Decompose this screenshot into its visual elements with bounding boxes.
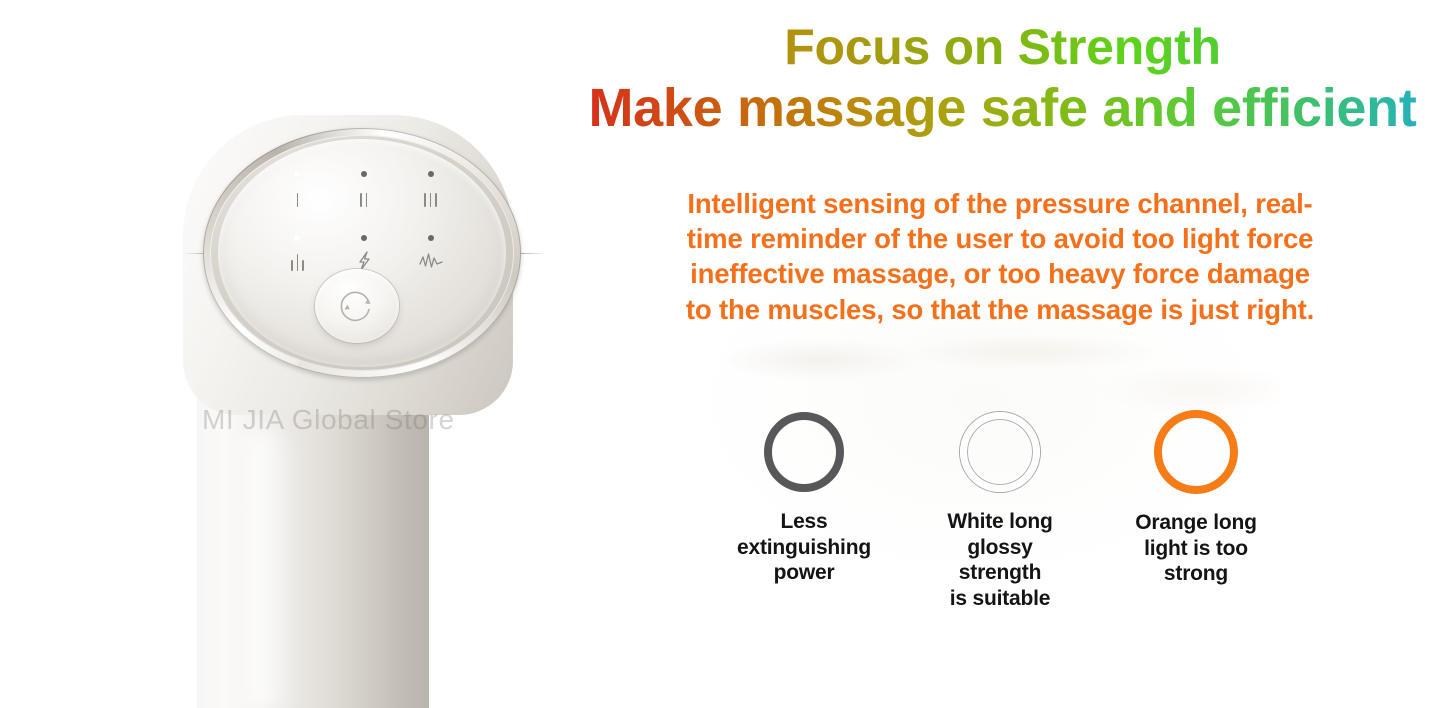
caption-line: glossy strength — [959, 536, 1041, 585]
caption-line: White long — [947, 510, 1052, 533]
mode-indicator-level-1[interactable] — [269, 171, 325, 207]
body-line: ineffective massage, or too heavy force … — [590, 256, 1410, 291]
caption-line: extinguishing — [737, 536, 871, 559]
ring-indicator-gray — [764, 412, 844, 492]
legend-item-too-strong: Orange long light is too strong — [1122, 412, 1270, 611]
legend-caption: Orange long light is too strong — [1122, 510, 1270, 587]
headline: Focus on Strength Make massage safe and … — [560, 18, 1445, 141]
level-3-bars-icon — [403, 185, 459, 207]
level-4-bars-icon — [269, 249, 325, 271]
caption-line: Orange long — [1135, 511, 1256, 534]
mode-indicator-level-3[interactable] — [403, 171, 459, 207]
body-line: to the muscles, so that the massage is j… — [590, 292, 1410, 327]
level-2-bars-icon — [336, 185, 392, 207]
caption-line: strong — [1164, 562, 1228, 585]
ring-indicator-white — [960, 412, 1040, 492]
massage-gun-device: MI JIA Global Store — [0, 0, 600, 708]
mode-indicator-grid — [264, 171, 464, 271]
led-indicator — [294, 235, 300, 241]
led-indicator — [428, 235, 434, 241]
pulse-wave-icon — [403, 249, 459, 271]
power-button[interactable] — [315, 269, 399, 343]
lightning-bolt-icon — [336, 249, 392, 271]
handle-highlight — [228, 430, 298, 708]
level-1-bars-icon — [269, 185, 325, 207]
circular-arrow-icon — [335, 284, 379, 328]
ring-indicator-orange — [1154, 410, 1238, 494]
mode-indicator-boost[interactable] — [336, 235, 392, 271]
body-line: time reminder of the user to avoid too l… — [590, 221, 1410, 256]
strength-indicator-legend: Less extinguishing power White long glos… — [730, 412, 1270, 611]
led-indicator — [294, 171, 300, 177]
caption-line: Less — [780, 510, 827, 533]
product-feature-banner: MI JIA Global Store Focus on Strength Ma… — [0, 0, 1445, 708]
headline-line-2: Make massage safe and efficient — [560, 77, 1445, 141]
legend-caption: Less extinguishing power — [730, 509, 878, 586]
legend-caption: White long glossy strength is suitable — [926, 509, 1074, 611]
led-indicator — [361, 235, 367, 241]
led-indicator — [428, 171, 434, 177]
caption-line: light is too — [1144, 537, 1248, 560]
caption-line: is suitable — [950, 587, 1051, 610]
control-panel-face — [218, 139, 506, 367]
headline-line-1: Focus on Strength — [560, 18, 1445, 77]
caption-line: power — [774, 561, 835, 584]
store-watermark: MI JIA Global Store — [202, 404, 502, 436]
legend-item-suitable: White long glossy strength is suitable — [926, 412, 1074, 611]
mode-indicator-pulse[interactable] — [403, 235, 459, 271]
body-paragraph: Intelligent sensing of the pressure chan… — [590, 186, 1410, 327]
legend-item-less-power: Less extinguishing power — [730, 412, 878, 611]
body-line: Intelligent sensing of the pressure chan… — [590, 186, 1410, 221]
mode-indicator-level-2[interactable] — [336, 171, 392, 207]
led-indicator — [361, 171, 367, 177]
content-column: Focus on Strength Make massage safe and … — [560, 0, 1445, 708]
mode-indicator-level-4[interactable] — [269, 235, 325, 271]
